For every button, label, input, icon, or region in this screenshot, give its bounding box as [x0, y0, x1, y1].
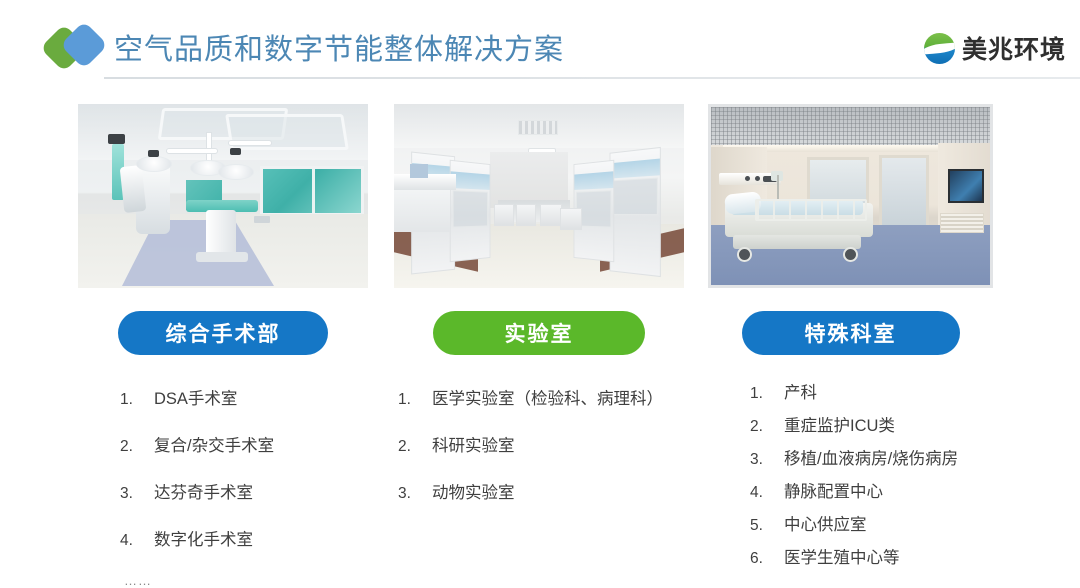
list-item: 2. 科研实验室 [398, 432, 684, 456]
list-item: 5. 中心供应室 [750, 511, 993, 535]
list-item: 4. 数字化手术室 [120, 526, 368, 550]
list-text: 产科 [784, 379, 817, 403]
list-item: 1. DSA手术室 [120, 385, 368, 409]
list-number: 3. [398, 485, 432, 503]
header-divider [104, 77, 1080, 79]
or-monitor [230, 148, 241, 155]
ward-air-vent [940, 213, 984, 233]
lab-cabinet-glass [612, 178, 657, 216]
list-number: 4. [750, 484, 784, 502]
page-title: 空气品质和数字节能整体解决方案 [114, 26, 564, 68]
lab-cabinet-unit [560, 208, 582, 230]
or-table-pedestal [206, 210, 236, 256]
slide-header: 空气品质和数字节能整体解决方案 美兆环境 [0, 0, 1080, 90]
lab-counter-base [394, 190, 450, 232]
or-table-base [196, 252, 248, 262]
ward-bed-wheel [843, 247, 858, 262]
list-number: 1. [750, 385, 784, 403]
list-item: 3. 动物实验室 [398, 479, 684, 503]
list-number: 2. [120, 438, 154, 456]
lab-ceiling-vent [518, 120, 558, 135]
photo-operating-room [78, 104, 368, 288]
or-wall-panel [254, 216, 270, 223]
pill-laboratory[interactable]: 实验室 [433, 311, 645, 355]
column-special-departments: 特殊科室 1. 产科 2. 重症监护ICU类 3. 移植/血液病房/烧伤病房 4… [708, 104, 993, 577]
lab-biosafety-cabinet [610, 147, 661, 277]
column-laboratory: 实验室 1. 医学实验室（检验科、病理科） 2. 科研实验室 3. 动物实验室 [394, 104, 684, 526]
ward-outlet [755, 176, 760, 181]
lab-cabinet-glass [452, 190, 488, 227]
wave-shape [924, 41, 955, 54]
list-number: 6. [750, 550, 784, 568]
or-teal-window [260, 166, 364, 216]
list-number: 1. [120, 391, 154, 409]
list-text: 复合/杂交手术室 [154, 432, 274, 456]
list-number: 3. [120, 485, 154, 503]
list-item: 3. 移植/血液病房/烧伤病房 [750, 445, 993, 469]
brand-logo: 美兆环境 [924, 30, 1066, 66]
list-number: 1. [398, 391, 432, 409]
photo-icu-ward [708, 104, 993, 288]
ward-sliding-door [879, 155, 929, 231]
list-text: 中心供应室 [784, 511, 867, 535]
list-text: 达芬奇手术室 [154, 479, 253, 503]
pill-surgery[interactable]: 综合手术部 [118, 311, 328, 355]
column-surgery: 综合手术部 1. DSA手术室 2. 复合/杂交手术室 3. 达芬奇手术室 4.… [78, 104, 368, 588]
lab-cabinet-unit [494, 204, 514, 226]
registered-dot [950, 34, 954, 38]
list-text: 科研实验室 [432, 432, 515, 456]
list-number: 2. [398, 438, 432, 456]
lab-cabinet-sash [610, 159, 659, 179]
list-text: 静脉配置中心 [784, 478, 883, 502]
or-ceiling-pendant [206, 132, 212, 162]
list-item: 4. 静脉配置中心 [750, 478, 993, 502]
list-number: 4. [120, 532, 154, 550]
list-item: 2. 复合/杂交手术室 [120, 432, 368, 456]
or-robotic-arm [120, 165, 147, 213]
photo-laboratory [394, 104, 684, 288]
list-special-departments: 1. 产科 2. 重症监护ICU类 3. 移植/血液病房/烧伤病房 4. 静脉配… [708, 379, 993, 568]
brand-name: 美兆环境 [962, 30, 1066, 66]
green-blue-diamond-logo-icon [46, 24, 112, 72]
or-surgical-lamp [218, 164, 254, 180]
ward-bed-base [733, 235, 861, 249]
lab-blue-container [410, 164, 428, 178]
lab-cabinet-sash [451, 171, 490, 190]
ward-outlet [745, 176, 750, 181]
content-columns: 综合手术部 1. DSA手术室 2. 复合/杂交手术室 3. 达芬奇手术室 4.… [0, 104, 1080, 557]
list-number: 2. [750, 418, 784, 436]
or-window-mullion [312, 169, 315, 213]
list-text: 数字化手术室 [154, 526, 253, 550]
list-item: 6. 医学生殖中心等 [750, 544, 993, 568]
or-monitor [108, 134, 125, 144]
circular-green-blue-wave-icon [924, 33, 955, 64]
list-text: DSA手术室 [154, 385, 237, 409]
list-item: 2. 重症监护ICU类 [750, 412, 993, 436]
list-text: 重症监护ICU类 [784, 412, 895, 436]
list-text: 动物实验室 [432, 479, 515, 503]
ward-bed-rail [755, 199, 867, 221]
list-item: 1. 产科 [750, 379, 993, 403]
list-surgery: 1. DSA手术室 2. 复合/杂交手术室 3. 达芬奇手术室 4. 数字化手术… [78, 385, 368, 550]
list-number: 3. [750, 451, 784, 469]
ward-wall-tv [948, 169, 984, 203]
list-item: 1. 医学实验室（检验科、病理科） [398, 385, 684, 409]
list-text: 医学实验室（检验科、病理科） [432, 385, 663, 409]
lab-cabinet-unit [540, 204, 562, 226]
or-monitor [148, 150, 159, 157]
lab-cabinet-unit [516, 204, 536, 226]
ward-perforated-ceiling [711, 107, 990, 145]
list-item: 3. 达芬奇手术室 [120, 479, 368, 503]
list-laboratory: 1. 医学实验室（检验科、病理科） 2. 科研实验室 3. 动物实验室 [394, 385, 684, 503]
pill-special-departments[interactable]: 特殊科室 [742, 311, 960, 355]
list-text: 移植/血液病房/烧伤病房 [784, 445, 958, 469]
or-lamp-arm [166, 148, 218, 154]
lab-cabinet-sash [574, 171, 613, 190]
or-surgical-lamp [136, 156, 172, 172]
list-ellipsis: …… [78, 573, 368, 588]
list-text: 医学生殖中心等 [784, 544, 900, 568]
list-number: 5. [750, 517, 784, 535]
ward-bed-wheel [737, 247, 752, 262]
or-lamp-arm [228, 140, 272, 146]
